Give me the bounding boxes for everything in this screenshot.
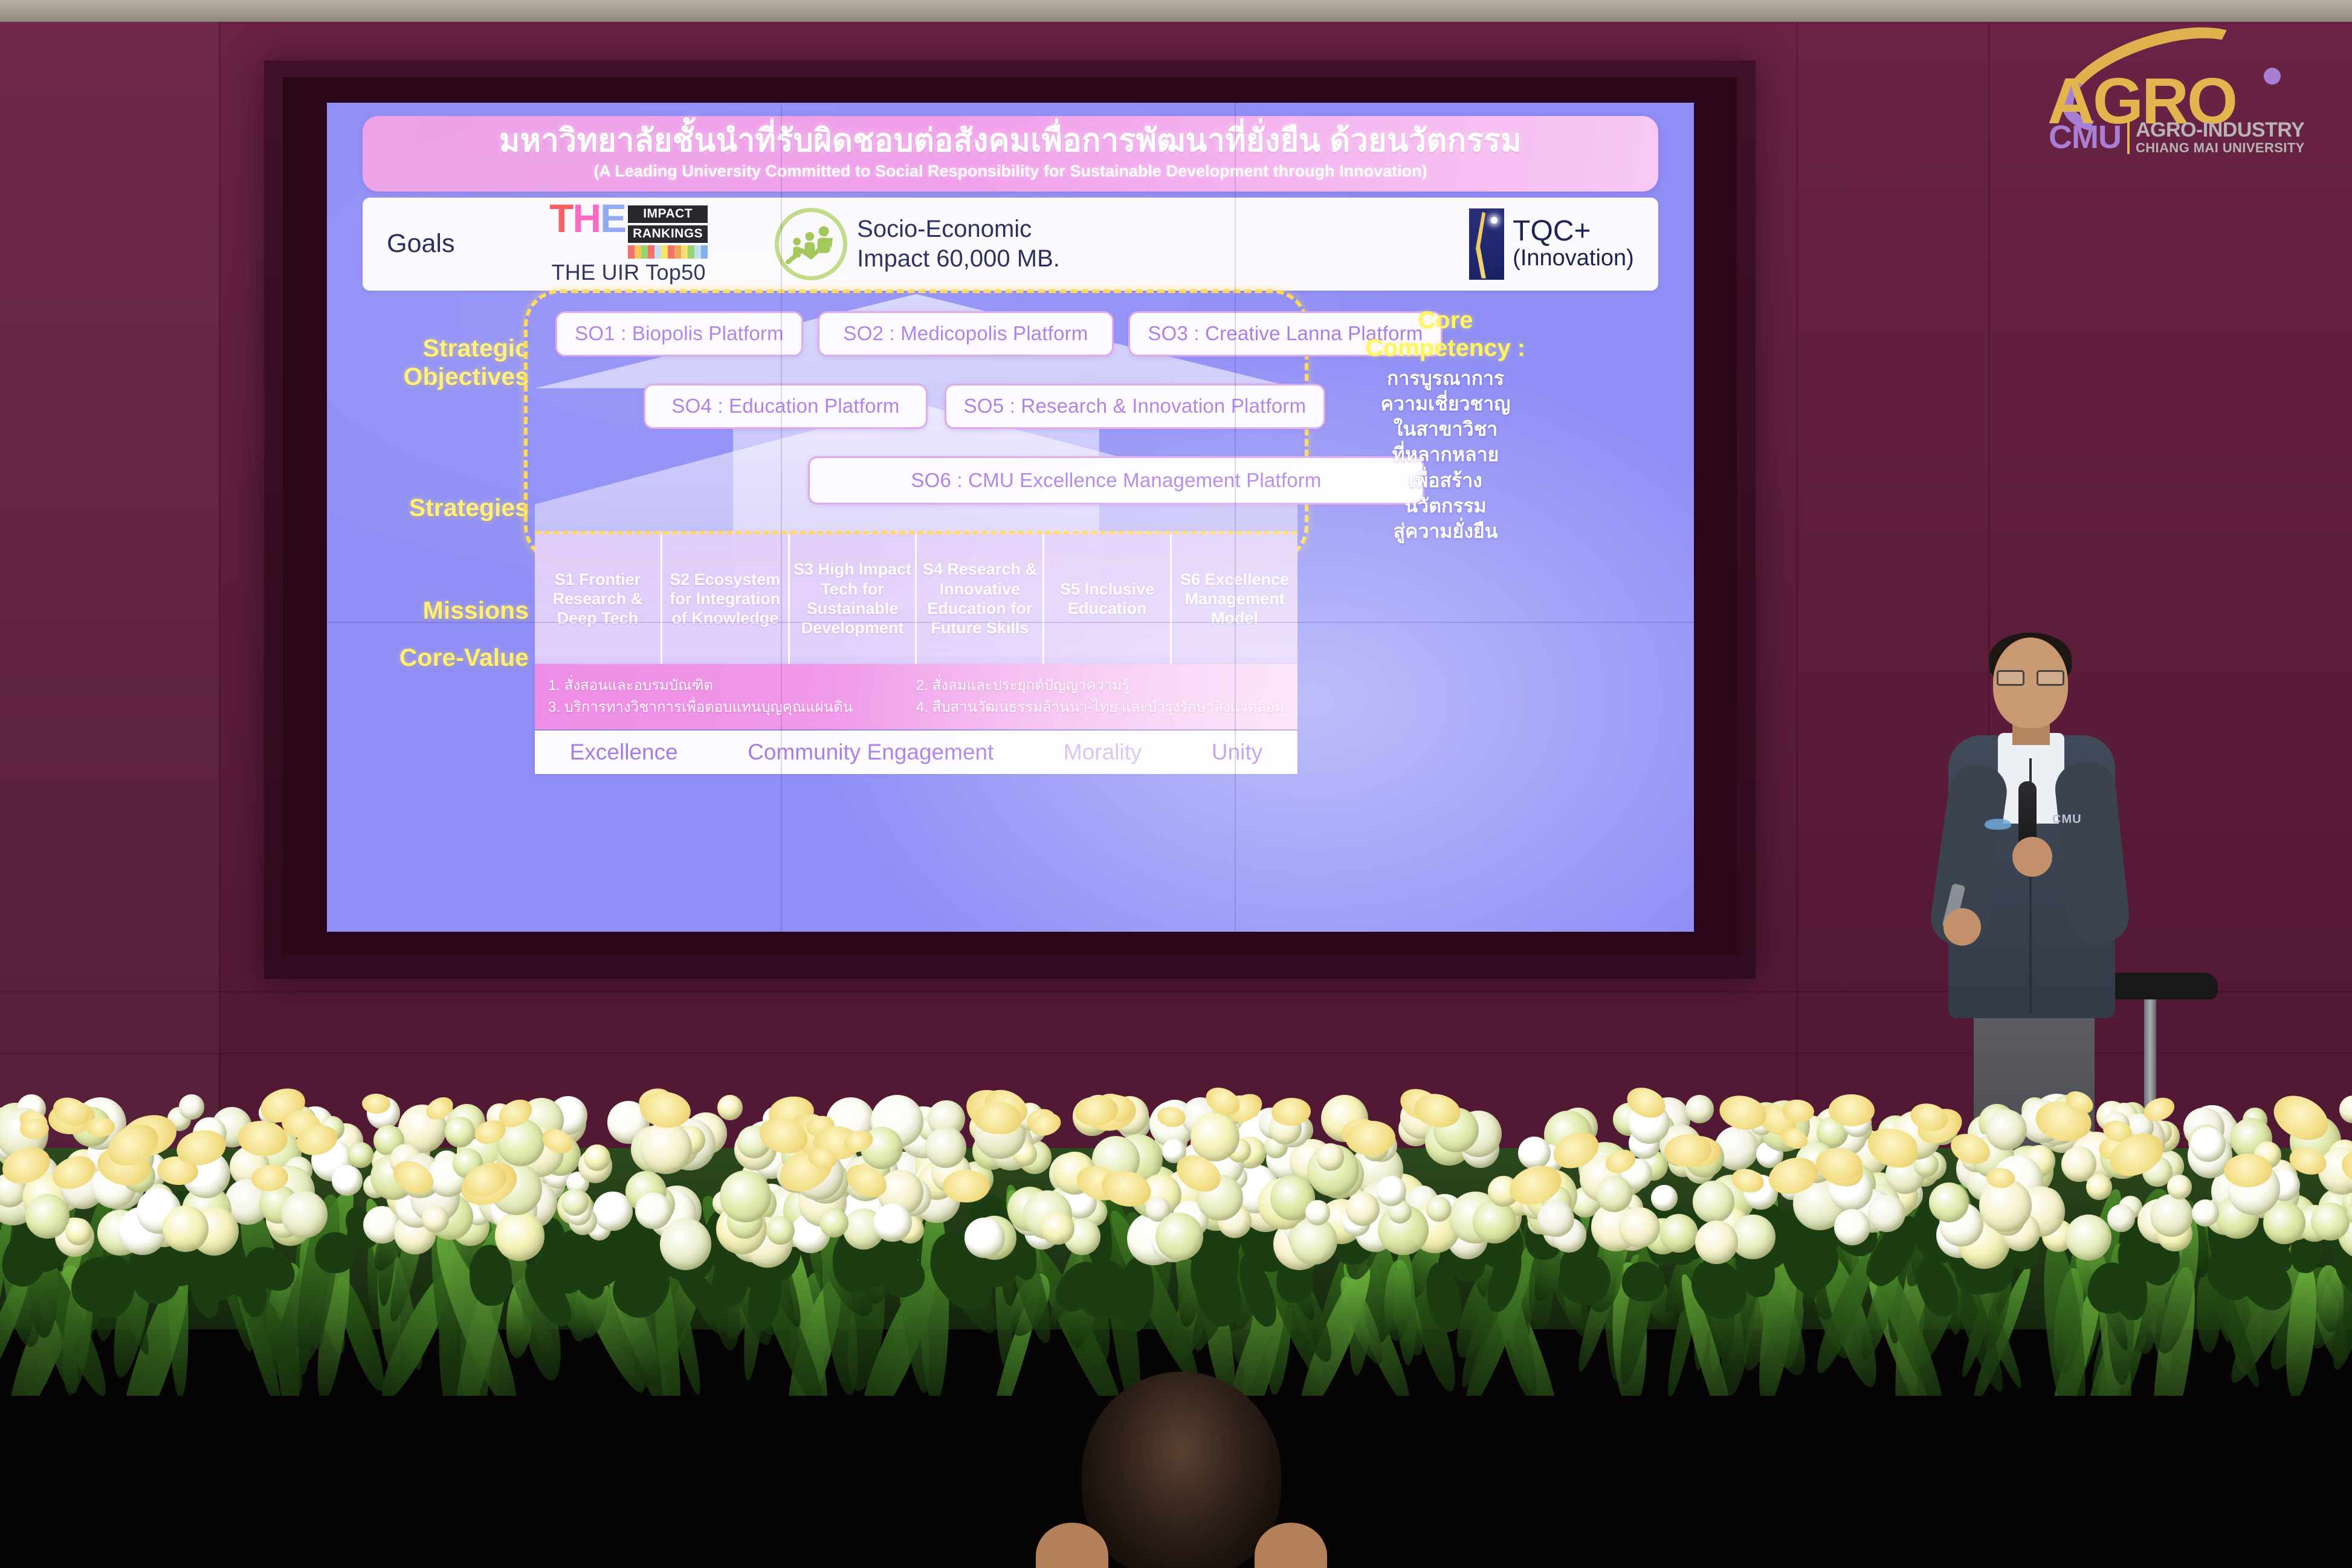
tqc-title: TQC+ [1513,217,1634,246]
cc-line-5: เพื่อสร้าง [1334,468,1557,493]
cc-line-4: ที่หลากหลาย [1334,442,1557,467]
cc-line-1: การบูรณาการ [1334,366,1557,391]
cc-line-6: นวัตกรรม [1334,493,1557,518]
the-color-bars [628,245,708,259]
so-box-6[interactable]: SO6 : CMU Excellence Management Platform [808,456,1424,505]
socio-economic-text: Socio-Economic Impact 60,000 MB. [857,215,1060,274]
the-box-rankings: RANKINGS [628,225,708,243]
presentation-slide: มหาวิทยาลัยชั้นนำที่รับผิดชอบต่อสังคมเพื… [327,103,1694,932]
tqc-text: TQC+ (Innovation) [1513,217,1634,271]
core-value-2: Community Engagement [744,740,997,765]
presenter-hand-right [2012,837,2052,877]
strategy-col-4[interactable]: S4 Research & Innovative Education for F… [917,534,1044,664]
so-box-2[interactable]: SO2 : Medicopolis Platform [818,311,1114,357]
strategy-col-3[interactable]: S3 High Impact Tech for Sustainable Deve… [790,534,917,664]
audience-member-head [1082,1372,1281,1568]
floral-arrangement [0,1082,2352,1396]
projection-screen: มหาวิทยาลัยชั้นนำที่รับผิดชอบต่อสังคมเพื… [327,103,1694,932]
cc-head-line2: Competency : [1366,335,1526,361]
jacket-badge-icon [1985,819,2011,830]
strategy-house-diagram: Strategic Objectives Strategies Missions… [343,294,1678,838]
jacket-cmu-logo: CMU [2052,813,2082,827]
so-box-5[interactable]: SO5 : Research & Innovation Platform [945,384,1325,429]
socio-line-2: Impact 60,000 MB. [857,244,1060,274]
strategies-table: S1 Frontier Research & Deep Tech S2 Ecos… [535,531,1297,664]
goals-row: Goals THE IMPACT RANKINGS [363,198,1658,291]
row-label-core-value: Core-Value [347,644,529,672]
tqc-thailand-quality-award-icon [1469,208,1504,280]
slide-title-english: (A Leading University Committed to Socia… [369,162,1652,181]
agro-cmu-logo: AGRO CMU AGRO-INDUSTRY CHIANG MAI UNIVER… [2033,31,2341,182]
cc-line-3: ในสาขาวิชา [1334,416,1557,442]
ceiling [0,0,2352,22]
cc-head-line1: Core [1418,307,1473,334]
core-value-3: Morality [1060,740,1146,765]
slide-title-band: มหาวิทยาลัยชั้นนำที่รับผิดชอบต่อสังคมเพื… [363,116,1658,192]
core-value-band: Excellence Community Engagement Morality… [535,731,1297,774]
mission-item-3: 3. บริการทางวิชาการเพื่อตอบแทนบุญคุณแผ่น… [548,699,916,717]
agro-university-text: CHIANG MAI UNIVERSITY [2136,141,2305,155]
strategy-col-1[interactable]: S1 Frontier Research & Deep Tech [535,534,662,664]
core-competency-block: Core Competency : การบูรณาการ ความเชี่ยว… [1334,306,1557,544]
agro-dot-icon [2264,68,2281,85]
row-label-missions: Missions [347,596,529,625]
mission-item-1: 1. สั่งสอนและอบรมบัณฑิต [548,677,916,695]
agro-divider [2127,120,2130,154]
row-label-so-line2: Objectives [404,363,529,390]
core-value-4: Unity [1208,740,1266,765]
socio-line-1: Socio-Economic [857,215,1060,244]
so-box-1[interactable]: SO1 : Biopolis Platform [555,311,803,357]
goal-socio-economic: Socio-Economic Impact 60,000 MB. [775,208,1060,280]
cc-line-7: สู่ความยั่งยืน [1334,518,1557,544]
agro-faculty-text: AGRO-INDUSTRY [2136,120,2305,141]
mission-item-4: 4. สืบสานวัฒนธรรมล้านนา-ไทย และบำรุงรักษ… [916,699,1284,717]
the-uir-caption: THE UIR Top50 [538,260,719,285]
socio-economic-growth-icon [775,208,847,280]
the-impact-rankings-icon: THE IMPACT RANKINGS [538,203,719,259]
core-value-1: Excellence [566,740,682,765]
core-competency-heading: Core Competency : [1334,306,1557,362]
row-label-strategic-objectives: Strategic Objectives [347,334,529,391]
goal-tqc-plus: TQC+ (Innovation) [1469,208,1634,280]
goal-the-rankings: THE IMPACT RANKINGS [538,203,719,285]
strategy-col-2[interactable]: S2 Ecosystem for Integration of Knowledg… [662,534,790,664]
slide-title-thai: มหาวิทยาลัยชั้นนำที่รับผิดชอบต่อสังคมเพื… [369,124,1652,158]
missions-band: 1. สั่งสอนและอบรมบัณฑิต 2. สั่งสมและประย… [535,664,1297,729]
strategy-col-5[interactable]: S5 Inclusive Education [1044,534,1172,664]
agro-cmu-text: CMU [2049,118,2121,156]
so-box-4[interactable]: SO4 : Education Platform [644,384,928,429]
the-box-impact: IMPACT [628,205,708,223]
eyeglasses-icon [1997,670,2064,686]
mission-item-2: 2. สั่งสมและประยุกต์ปัญญาความรู้ [916,677,1284,695]
tqc-subtitle: (Innovation) [1513,246,1634,271]
presenter-hand-left [1943,908,1981,946]
goals-label: Goals [387,229,538,259]
row-label-strategies: Strategies [347,494,529,522]
cc-line-2: ความเชี่ยวชาญ [1334,391,1557,416]
row-label-so-line1: Strategic [423,334,529,362]
strategy-col-6[interactable]: S6 Excellence Management Model [1172,534,1297,664]
